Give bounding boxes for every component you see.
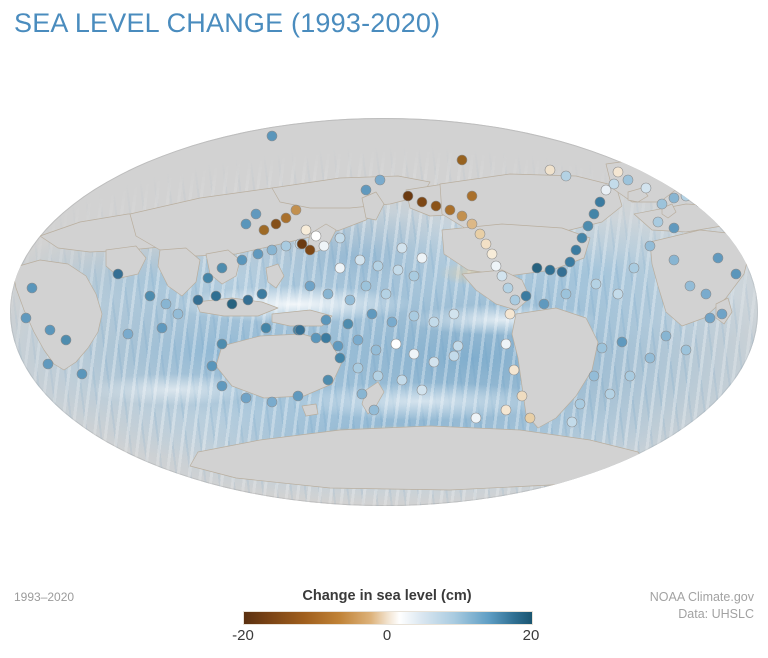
station-dot <box>259 225 269 235</box>
station-dot <box>311 231 321 241</box>
station-dot <box>645 241 655 251</box>
station-dot <box>501 339 511 349</box>
station-dot <box>367 309 377 319</box>
tide-gauge-stations <box>10 118 758 506</box>
station-dot <box>373 371 383 381</box>
map-ellipse-clip <box>10 118 758 506</box>
station-dot <box>577 233 587 243</box>
station-dot <box>397 375 407 385</box>
station-dot <box>669 223 679 233</box>
station-dot <box>501 405 511 415</box>
station-dot <box>261 323 271 333</box>
credit-block: NOAA Climate.gov Data: UHSLC <box>650 589 754 623</box>
station-dot <box>705 313 715 323</box>
station-dot <box>161 299 171 309</box>
station-dot <box>371 345 381 355</box>
station-dot <box>61 335 71 345</box>
station-dot <box>532 263 542 273</box>
station-dot <box>521 291 531 301</box>
station-dot <box>203 273 213 283</box>
station-dot <box>243 295 253 305</box>
station-dot <box>609 179 619 189</box>
station-dot <box>717 309 727 319</box>
station-dot <box>355 255 365 265</box>
station-dot <box>701 289 711 299</box>
station-dot <box>467 191 477 201</box>
station-dot <box>253 249 263 259</box>
station-dot <box>605 389 615 399</box>
station-dot <box>661 331 671 341</box>
station-dot <box>305 245 315 255</box>
station-dot <box>353 363 363 373</box>
station-dot <box>323 375 333 385</box>
station-dot <box>565 257 575 267</box>
station-dot <box>113 269 123 279</box>
station-dot <box>391 339 401 349</box>
station-dot <box>517 391 527 401</box>
station-dot <box>445 205 455 215</box>
station-dot <box>475 229 485 239</box>
station-dot <box>487 249 497 259</box>
station-dot <box>629 263 639 273</box>
colorbar-tick-mid: 0 <box>383 627 391 644</box>
station-dot <box>617 337 627 347</box>
station-dot <box>323 289 333 299</box>
station-dot <box>311 333 321 343</box>
station-dot <box>731 269 741 279</box>
station-dot <box>589 209 599 219</box>
station-dot <box>321 333 331 343</box>
station-dot <box>681 191 691 201</box>
station-dot <box>241 393 251 403</box>
station-dot <box>361 185 371 195</box>
station-dot <box>173 309 183 319</box>
station-dot <box>345 295 355 305</box>
station-dot <box>449 351 459 361</box>
station-dot <box>653 217 663 227</box>
credit-data: Data: UHSLC <box>650 606 754 623</box>
station-dot <box>591 279 601 289</box>
station-dot <box>211 291 221 301</box>
station-dot <box>241 219 251 229</box>
station-dot <box>293 391 303 401</box>
station-dot <box>509 365 519 375</box>
map-figure <box>0 60 768 560</box>
station-dot <box>625 371 635 381</box>
station-dot <box>335 353 345 363</box>
credit-source: NOAA Climate.gov <box>650 589 754 606</box>
colorbar-title: Change in sea level (cm) <box>243 588 531 604</box>
station-dot <box>641 183 651 193</box>
station-dot <box>43 359 53 369</box>
station-dot <box>613 167 623 177</box>
station-dot <box>623 175 633 185</box>
station-dot <box>373 261 383 271</box>
station-dot <box>369 405 379 415</box>
station-dot <box>409 349 419 359</box>
station-dot <box>669 255 679 265</box>
station-dot <box>157 323 167 333</box>
station-dot <box>281 213 291 223</box>
station-dot <box>417 385 427 395</box>
station-dot <box>503 283 513 293</box>
station-dot <box>403 191 413 201</box>
station-dot <box>381 289 391 299</box>
station-dot <box>613 289 623 299</box>
station-dot <box>695 197 705 207</box>
station-dot <box>645 353 655 363</box>
station-dot <box>457 211 467 221</box>
station-dot <box>429 317 439 327</box>
station-dot <box>335 233 345 243</box>
station-dot <box>457 155 467 165</box>
station-dot <box>575 399 585 409</box>
station-dot <box>227 299 237 309</box>
station-dot <box>557 267 567 277</box>
station-dot <box>251 209 261 219</box>
station-dot <box>217 381 227 391</box>
station-dot <box>409 271 419 281</box>
station-dot <box>77 369 87 379</box>
station-dot <box>409 311 419 321</box>
station-dot <box>657 199 667 209</box>
colorbar-gradient <box>243 611 533 625</box>
station-dot <box>305 281 315 291</box>
globe-projection <box>10 118 758 506</box>
station-dot <box>449 309 459 319</box>
station-dot <box>267 397 277 407</box>
station-dot <box>27 283 37 293</box>
station-dot <box>357 389 367 399</box>
station-dot <box>583 221 593 231</box>
station-dot <box>333 341 343 351</box>
station-dot <box>319 241 329 251</box>
station-dot <box>267 245 277 255</box>
station-dot <box>453 341 463 351</box>
station-dot <box>497 271 507 281</box>
station-dot <box>429 357 439 367</box>
station-dot <box>685 281 695 291</box>
station-dot <box>681 345 691 355</box>
station-dot <box>393 265 403 275</box>
station-dot <box>417 197 427 207</box>
station-dot <box>343 319 353 329</box>
station-dot <box>193 295 203 305</box>
station-dot <box>207 361 217 371</box>
station-dot <box>545 165 555 175</box>
station-dot <box>525 413 535 423</box>
station-dot <box>271 219 281 229</box>
station-dot <box>597 343 607 353</box>
colorbar-legend: Change in sea level (cm) -20 0 20 <box>243 588 531 649</box>
station-dot <box>539 299 549 309</box>
station-dot <box>467 219 477 229</box>
station-dot <box>267 131 277 141</box>
station-dot <box>595 197 605 207</box>
station-dot <box>295 325 305 335</box>
station-dot <box>21 313 31 323</box>
station-dot <box>713 253 723 263</box>
station-dot <box>481 239 491 249</box>
station-dot <box>353 335 363 345</box>
colorbar-tick-max: 20 <box>523 627 540 644</box>
station-dot <box>217 339 227 349</box>
station-dot <box>707 205 717 215</box>
station-dot <box>217 263 227 273</box>
station-dot <box>669 193 679 203</box>
station-dot <box>291 205 301 215</box>
period-label: 1993–2020 <box>14 590 74 604</box>
station-dot <box>145 291 155 301</box>
station-dot <box>257 289 267 299</box>
station-dot <box>301 225 311 235</box>
station-dot <box>281 241 291 251</box>
station-dot <box>375 175 385 185</box>
station-dot <box>571 245 581 255</box>
station-dot <box>510 295 520 305</box>
station-dot <box>123 329 133 339</box>
station-dot <box>417 253 427 263</box>
station-dot <box>545 265 555 275</box>
station-dot <box>491 261 501 271</box>
page-title: SEA LEVEL CHANGE (1993-2020) <box>14 8 440 39</box>
station-dot <box>387 317 397 327</box>
colorbar-ticks: -20 0 20 <box>243 627 531 649</box>
station-dot <box>561 289 571 299</box>
station-dot <box>431 201 441 211</box>
colorbar-tick-min: -20 <box>232 627 254 644</box>
station-dot <box>321 315 331 325</box>
station-dot <box>237 255 247 265</box>
station-dot <box>471 413 481 423</box>
station-dot <box>505 309 515 319</box>
station-dot <box>567 417 577 427</box>
station-dot <box>361 281 371 291</box>
station-dot <box>561 171 571 181</box>
station-dot <box>397 243 407 253</box>
station-dot <box>335 263 345 273</box>
station-dot <box>45 325 55 335</box>
station-dot <box>589 371 599 381</box>
